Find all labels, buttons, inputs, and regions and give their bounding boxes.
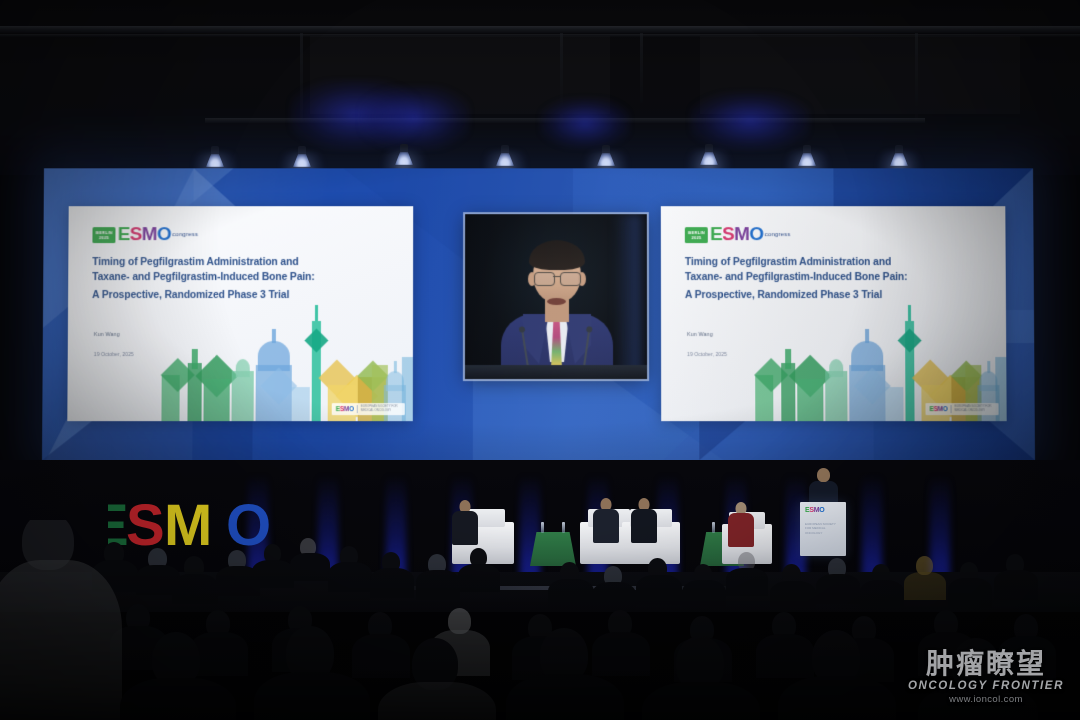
speaker-glasses-right (560, 272, 581, 286)
audience-shoulders (252, 560, 294, 588)
esmo-letter-m: M (142, 225, 157, 244)
slide-title-line-2: Taxane- and Pegfilgrastim-Induced Bone P… (685, 271, 985, 286)
slide-title: Timing of Pegfilgrastim Administration a… (92, 256, 392, 304)
rig-post (915, 33, 918, 123)
esmo-congress-logo: BERLIN 2025 E S M O congress (685, 224, 791, 244)
audience-shoulders (816, 574, 860, 604)
lectern-letter-o: O (819, 507, 824, 514)
skyline-shape (785, 349, 791, 369)
main-led-screen: BERLIN 2025 E S M O congress Timing of P… (42, 168, 1035, 460)
audience-shoulders (172, 574, 218, 604)
skyline-shape (908, 305, 911, 321)
slide-title-line-1: Timing of Pegfilgrastim Administration a… (92, 256, 392, 271)
footer-letter-o: O (943, 406, 948, 413)
audience-shoulders (756, 634, 814, 678)
esmo-letter-m: M (734, 225, 749, 244)
speaker-glasses-left (534, 272, 555, 286)
slide-panel-right: BERLIN 2025 E S M O congress Timing of P… (661, 206, 1007, 421)
audience-shoulders (682, 580, 726, 610)
presenter-video-feed (465, 214, 647, 379)
audience-shoulders-foreground (378, 682, 496, 720)
slide-title-line-2: Taxane- and Pegfilgrastim-Induced Bone P… (92, 271, 392, 286)
skyline-shape (315, 305, 318, 321)
audience-shoulders (290, 553, 330, 581)
audience-shoulders (592, 632, 650, 676)
spotlight (890, 145, 908, 167)
slide-author: Kun Wang (687, 332, 713, 338)
audience-shoulders (770, 581, 816, 611)
footer-esmo-wordmark: E S M O (930, 406, 948, 413)
footer-esmo-wordmark: E S M O (336, 406, 354, 413)
skyline-shape (304, 328, 328, 352)
footer-divider (357, 405, 358, 413)
audience-shoulders (328, 562, 372, 592)
skyline-shape (898, 328, 922, 352)
speaker-mouth (547, 298, 566, 305)
esmo-congress-logo: BERLIN 2025 E S M O congress (92, 224, 198, 244)
skyline-shape (987, 361, 990, 373)
skyline-shape (272, 329, 276, 343)
esmo-berlin-badge: BERLIN 2025 (92, 227, 115, 243)
audience-shoulders-foreground (918, 684, 1038, 720)
esmo-letter-s: S (722, 225, 734, 244)
skyline-shape (236, 359, 250, 377)
audience-shoulders-foreground (0, 560, 122, 720)
esmo-berlin-badge: BERLIN 2025 (685, 227, 708, 243)
ceiling-truss (0, 26, 1080, 33)
spotlight (395, 144, 413, 166)
skyline-shape (865, 329, 869, 343)
blue-haze (360, 86, 470, 150)
speaker-glasses-bridge (553, 276, 560, 277)
footer-society-name: EUROPEAN SOCIETY FOR MEDICAL ONCOLOGY (361, 406, 401, 413)
blue-haze (690, 92, 810, 150)
audience-shoulders (994, 570, 1038, 600)
esmo-letter-o: O (157, 225, 171, 244)
footer-divider (951, 405, 952, 413)
skyline-shape (797, 379, 823, 421)
audience-shoulders (860, 580, 904, 610)
spotlight (700, 144, 718, 166)
lectern-speaker-head (817, 468, 830, 482)
skyline-shape (258, 341, 290, 371)
spotlight (496, 145, 514, 167)
skyline-shape (292, 387, 310, 421)
badge-year: 2025 (96, 235, 113, 240)
esmo-letter-e: E (710, 225, 722, 244)
audience-shoulders-foreground (254, 672, 370, 720)
skyline-shape (232, 371, 254, 421)
esmo-letter-o: O (749, 225, 763, 244)
footer-letter-o: O (349, 406, 354, 413)
esmo-letter-s: S (130, 225, 142, 244)
slide-date: 19 October, 2025 (687, 352, 727, 358)
audience-shoulders-foreground (642, 682, 760, 720)
slide-footer-esmo-logo: E S M O EUROPEAN SOCIETY FOR MEDICAL ONC… (332, 403, 405, 415)
audience-shoulders (370, 568, 414, 598)
esmo-letter-e: E (118, 225, 130, 244)
audience-shoulders (416, 570, 460, 600)
footer-society-name: EUROPEAN SOCIETY FOR MEDICAL ONCOLOGY (955, 406, 995, 413)
esmo-congress-suffix: congress (172, 225, 198, 244)
audience-shoulders-foreground (506, 674, 624, 720)
spotlight (293, 146, 311, 168)
audience-shoulders-foreground (778, 676, 896, 720)
lectern-speaker (806, 468, 840, 506)
badge-year: 2025 (688, 235, 705, 240)
slide-title: Timing of Pegfilgrastim Administration a… (685, 256, 985, 304)
audience-shoulders (636, 575, 682, 605)
skyline-shape (192, 349, 198, 369)
skyline-shape (204, 379, 230, 421)
hall-ceiling (0, 0, 1080, 175)
skyline-shape (829, 359, 843, 377)
skyline-shape (825, 371, 847, 421)
audience-shoulders (998, 636, 1056, 680)
skyline-shape (851, 341, 883, 371)
video-podium-edge (465, 365, 647, 379)
slide-footer-esmo-logo: E S M O EUROPEAN SOCIETY FOR MEDICAL ONC… (925, 403, 998, 415)
audience-shoulders-foreground (120, 678, 236, 720)
slide-author: Kun Wang (94, 332, 120, 338)
audience-shoulders (948, 578, 992, 608)
audience-shoulders (592, 582, 636, 612)
lectern-esmo-logo: E S M O (805, 507, 824, 514)
slide-panel-left: BERLIN 2025 E S M O congress Timing of P… (67, 206, 413, 421)
skyline-shape (394, 361, 397, 373)
slide-date: 19 October, 2025 (94, 352, 134, 358)
slide-title-line-1: Timing of Pegfilgrastim Administration a… (685, 256, 985, 271)
audience-shoulders (904, 572, 946, 600)
blue-haze (540, 98, 630, 148)
esmo-congress-suffix: congress (764, 225, 790, 244)
audience-shoulders (548, 579, 594, 609)
audience-shoulders (726, 568, 768, 596)
esmo-wordmark: E S M O congress (118, 224, 199, 244)
audience (0, 520, 1080, 720)
audience-shoulders (352, 634, 410, 678)
spotlight (798, 145, 816, 167)
rig-post (640, 33, 643, 103)
esmo-wordmark: E S M O congress (710, 224, 790, 244)
skyline-shape (885, 387, 903, 421)
audience-shoulders (458, 564, 500, 592)
conference-stage-scene: BERLIN 2025 E S M O congress Timing of P… (0, 0, 1080, 720)
spotlight (206, 146, 224, 168)
spotlight (597, 145, 615, 167)
